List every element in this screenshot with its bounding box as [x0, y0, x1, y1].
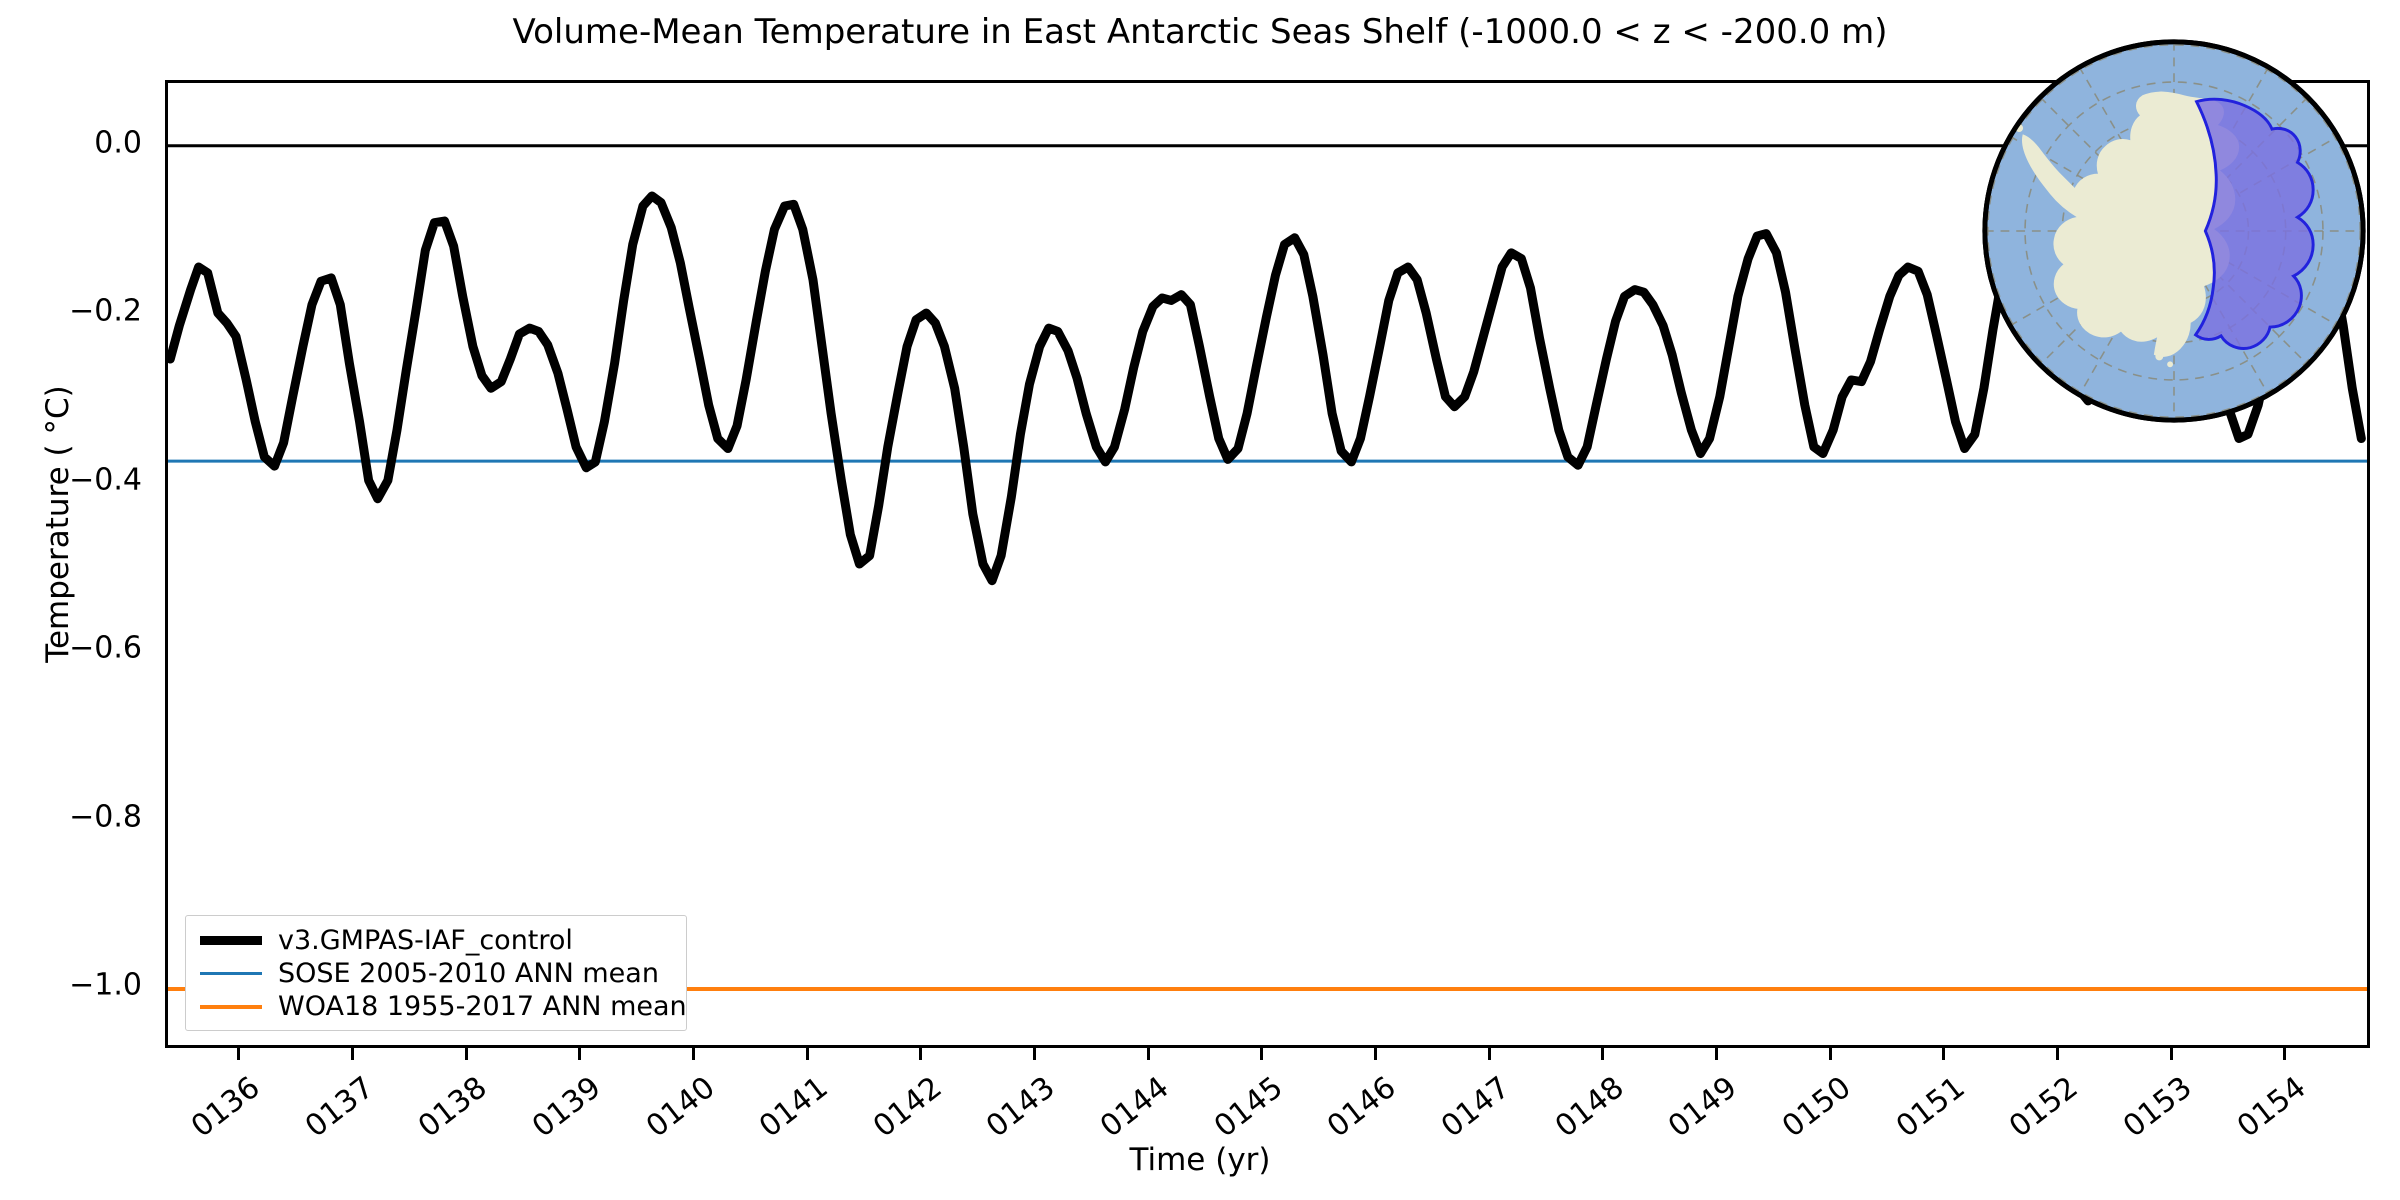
- x-tick-mark: [1715, 1048, 1718, 1060]
- x-tick-mark: [465, 1048, 468, 1060]
- inset-map-svg: [1978, 35, 2370, 427]
- x-tick-label: 0139: [524, 1070, 607, 1146]
- x-tick-label: 0141: [752, 1070, 835, 1146]
- island-dot-5: [2167, 361, 2173, 367]
- x-tick-label: 0145: [1206, 1070, 1289, 1146]
- x-tick-mark: [2056, 1048, 2059, 1060]
- legend-color-swatch: [200, 936, 262, 945]
- antarctica-polar-inset-map: [1978, 35, 2370, 427]
- x-tick-mark: [237, 1048, 240, 1060]
- legend-label: v3.GMPAS-IAF_control: [278, 925, 573, 956]
- x-tick-label: 0136: [183, 1070, 266, 1146]
- x-tick-label: 0149: [1661, 1070, 1744, 1146]
- x-tick-label: 0146: [1320, 1070, 1403, 1146]
- x-tick-label: 0153: [2116, 1070, 2199, 1146]
- legend-label: WOA18 1955-2017 ANN mean: [278, 991, 687, 1022]
- legend-label: SOSE 2005-2010 ANN mean: [278, 958, 659, 989]
- x-tick-mark: [1260, 1048, 1263, 1060]
- x-tick-mark: [1601, 1048, 1604, 1060]
- x-tick-mark: [578, 1048, 581, 1060]
- island-dot-3: [2024, 89, 2030, 95]
- x-tick-label: 0143: [979, 1070, 1062, 1146]
- x-tick-mark: [1147, 1048, 1150, 1060]
- x-tick-mark: [351, 1048, 354, 1060]
- x-tick-label: 0137: [297, 1070, 380, 1146]
- x-tick-mark: [2283, 1048, 2286, 1060]
- legend-row: WOA18 1955-2017 ANN mean: [200, 990, 672, 1023]
- legend-color-swatch: [200, 1005, 262, 1009]
- legend-color-swatch: [200, 972, 262, 975]
- x-tick-mark: [692, 1048, 695, 1060]
- x-tick-mark: [1033, 1048, 1036, 1060]
- x-tick-label: 0152: [2002, 1070, 2085, 1146]
- east-antarctic-seas-region: [2196, 99, 2314, 348]
- y-axis-label: Temperature ( °C): [40, 74, 76, 974]
- x-tick-label: 0154: [2229, 1070, 2312, 1146]
- x-tick-label: 0140: [638, 1070, 721, 1146]
- x-tick-mark: [1488, 1048, 1491, 1060]
- x-tick-label: 0142: [865, 1070, 948, 1146]
- island-dot-2: [2010, 115, 2016, 121]
- x-tick-label: 0151: [1888, 1070, 1971, 1146]
- x-tick-mark: [919, 1048, 922, 1060]
- x-tick-mark: [806, 1048, 809, 1060]
- x-tick-mark: [1374, 1048, 1377, 1060]
- figure-canvas: Volume-Mean Temperature in East Antarcti…: [0, 0, 2400, 1200]
- x-tick-label: 0147: [1434, 1070, 1517, 1146]
- x-tick-label: 0138: [411, 1070, 494, 1146]
- x-tick-label: 0150: [1775, 1070, 1858, 1146]
- chart-legend: v3.GMPAS-IAF_controlSOSE 2005-2010 ANN m…: [185, 915, 687, 1031]
- legend-row: v3.GMPAS-IAF_control: [200, 924, 672, 957]
- x-axis-label: Time (yr): [0, 1142, 2400, 1178]
- x-tick-mark: [1942, 1048, 1945, 1060]
- legend-row: SOSE 2005-2010 ANN mean: [200, 957, 672, 990]
- x-tick-label: 0144: [1093, 1070, 1176, 1146]
- x-tick-mark: [2170, 1048, 2173, 1060]
- x-tick-label: 0148: [1547, 1070, 1630, 1146]
- x-tick-mark: [1829, 1048, 1832, 1060]
